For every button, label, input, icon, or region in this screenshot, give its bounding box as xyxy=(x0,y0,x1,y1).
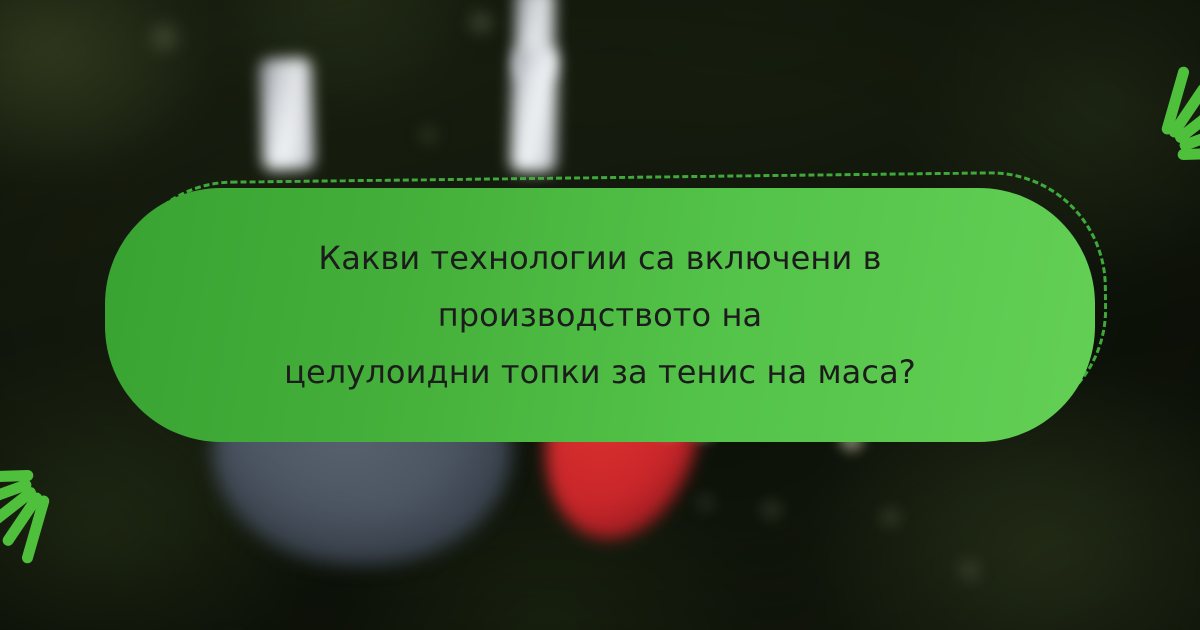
starburst-ray xyxy=(1177,147,1200,160)
question-line-1: Какви технологии са включени в производс… xyxy=(318,239,881,334)
poster-canvas: Какви технологии са включени в производс… xyxy=(0,0,1200,630)
question-line-2: целулоидни топки за тенис на маса? xyxy=(284,353,916,391)
question-card: Какви технологии са включени в производс… xyxy=(105,188,1095,442)
card-body: Какви технологии са включени в производс… xyxy=(105,188,1095,442)
question-text: Какви технологии са включени в производс… xyxy=(185,230,1015,401)
